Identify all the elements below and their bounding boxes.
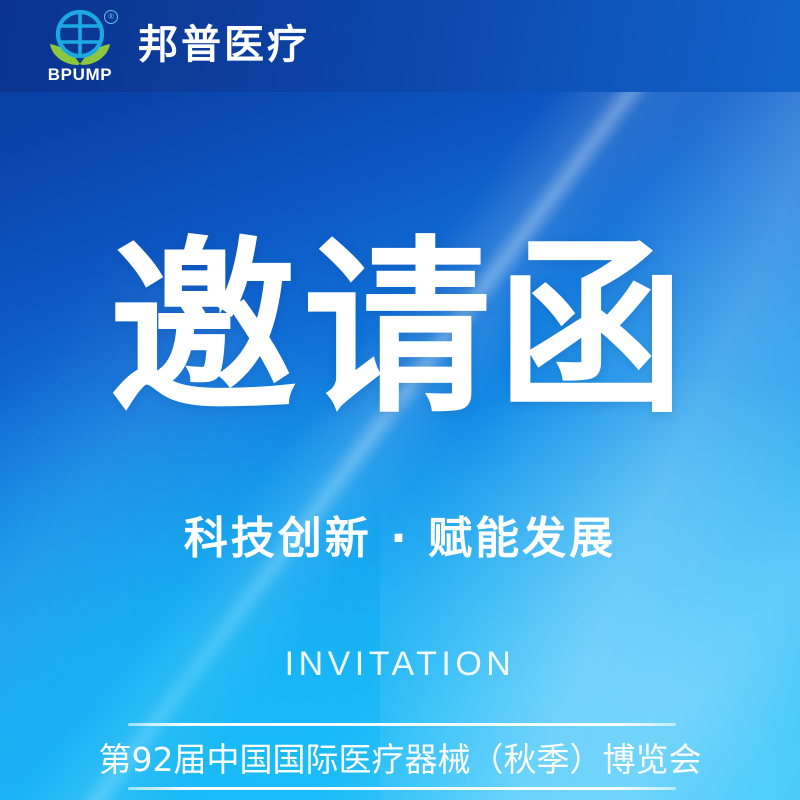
brand-name-cn: 邦普医疗 (138, 25, 310, 67)
divider-top (128, 723, 676, 726)
registered-trademark-icon: ® (104, 10, 118, 24)
invitation-poster: ® BPUMP 邦普医疗 邀请函 科技创新 · 赋能发展 INVITATION … (0, 0, 800, 800)
event-name: 第92届中国国际医疗器械（秋季）博览会 (0, 738, 800, 783)
divider-bottom (128, 787, 676, 790)
background-gradient (0, 0, 800, 800)
logo-wordmark: BPUMP (44, 65, 116, 85)
brand-lockup: ® BPUMP 邦普医疗 (44, 0, 310, 92)
bpump-globe-leaf-logo: ® BPUMP (44, 8, 116, 84)
header-band: ® BPUMP 邦普医疗 (0, 0, 800, 92)
